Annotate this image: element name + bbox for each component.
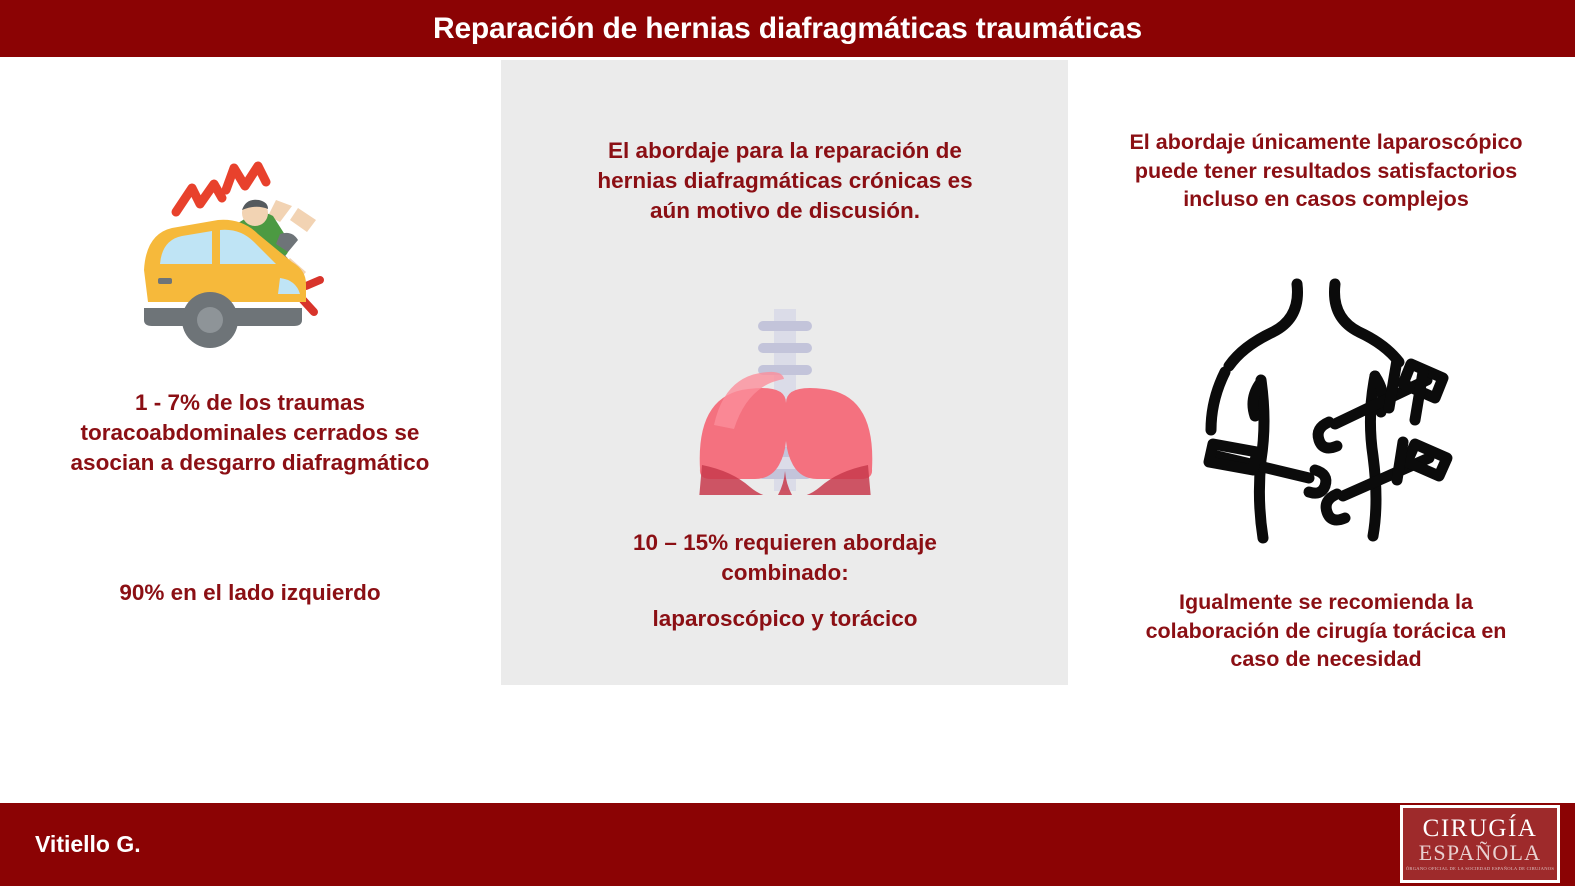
center-heading-text: El abordaje para la reparación de hernia… [592,136,978,226]
journal-logo-line2: ESPAÑOLA [1419,842,1541,864]
car-crash-icon [130,160,345,350]
journal-logo-subtitle: ÓRGANO OFICIAL DE LA SOCIEDAD ESPAÑOLA D… [1406,867,1554,872]
diaphragm-icon [690,305,880,495]
author-name: Vitiello G. [35,803,141,886]
journal-logo-line1: CIRUGÍA [1423,816,1538,841]
center-statistic-text: 10 – 15% requieren abordaje combinado: [592,528,978,588]
journal-logo: CIRUGÍA ESPAÑOLA ÓRGANO OFICIAL DE LA SO… [1400,805,1560,883]
center-approach-text: laparoscópico y torácico [592,604,978,634]
right-collaboration-text: Igualmente se recomienda la colaboración… [1122,588,1530,674]
right-heading-text: El abordaje únicamente laparoscópico pue… [1122,128,1530,214]
page-title: Reparación de hernias diafragmáticas tra… [0,0,1575,57]
left-side-text: 90% en el lado izquierdo [58,578,442,608]
footer-bar [0,803,1575,886]
journal-logo-inner: CIRUGÍA ESPAÑOLA ÓRGANO OFICIAL DE LA SO… [1403,808,1557,880]
left-statistic-text: 1 - 7% de los traumas toracoabdominales … [58,388,442,478]
laparoscopy-torso-icon [1175,272,1465,564]
